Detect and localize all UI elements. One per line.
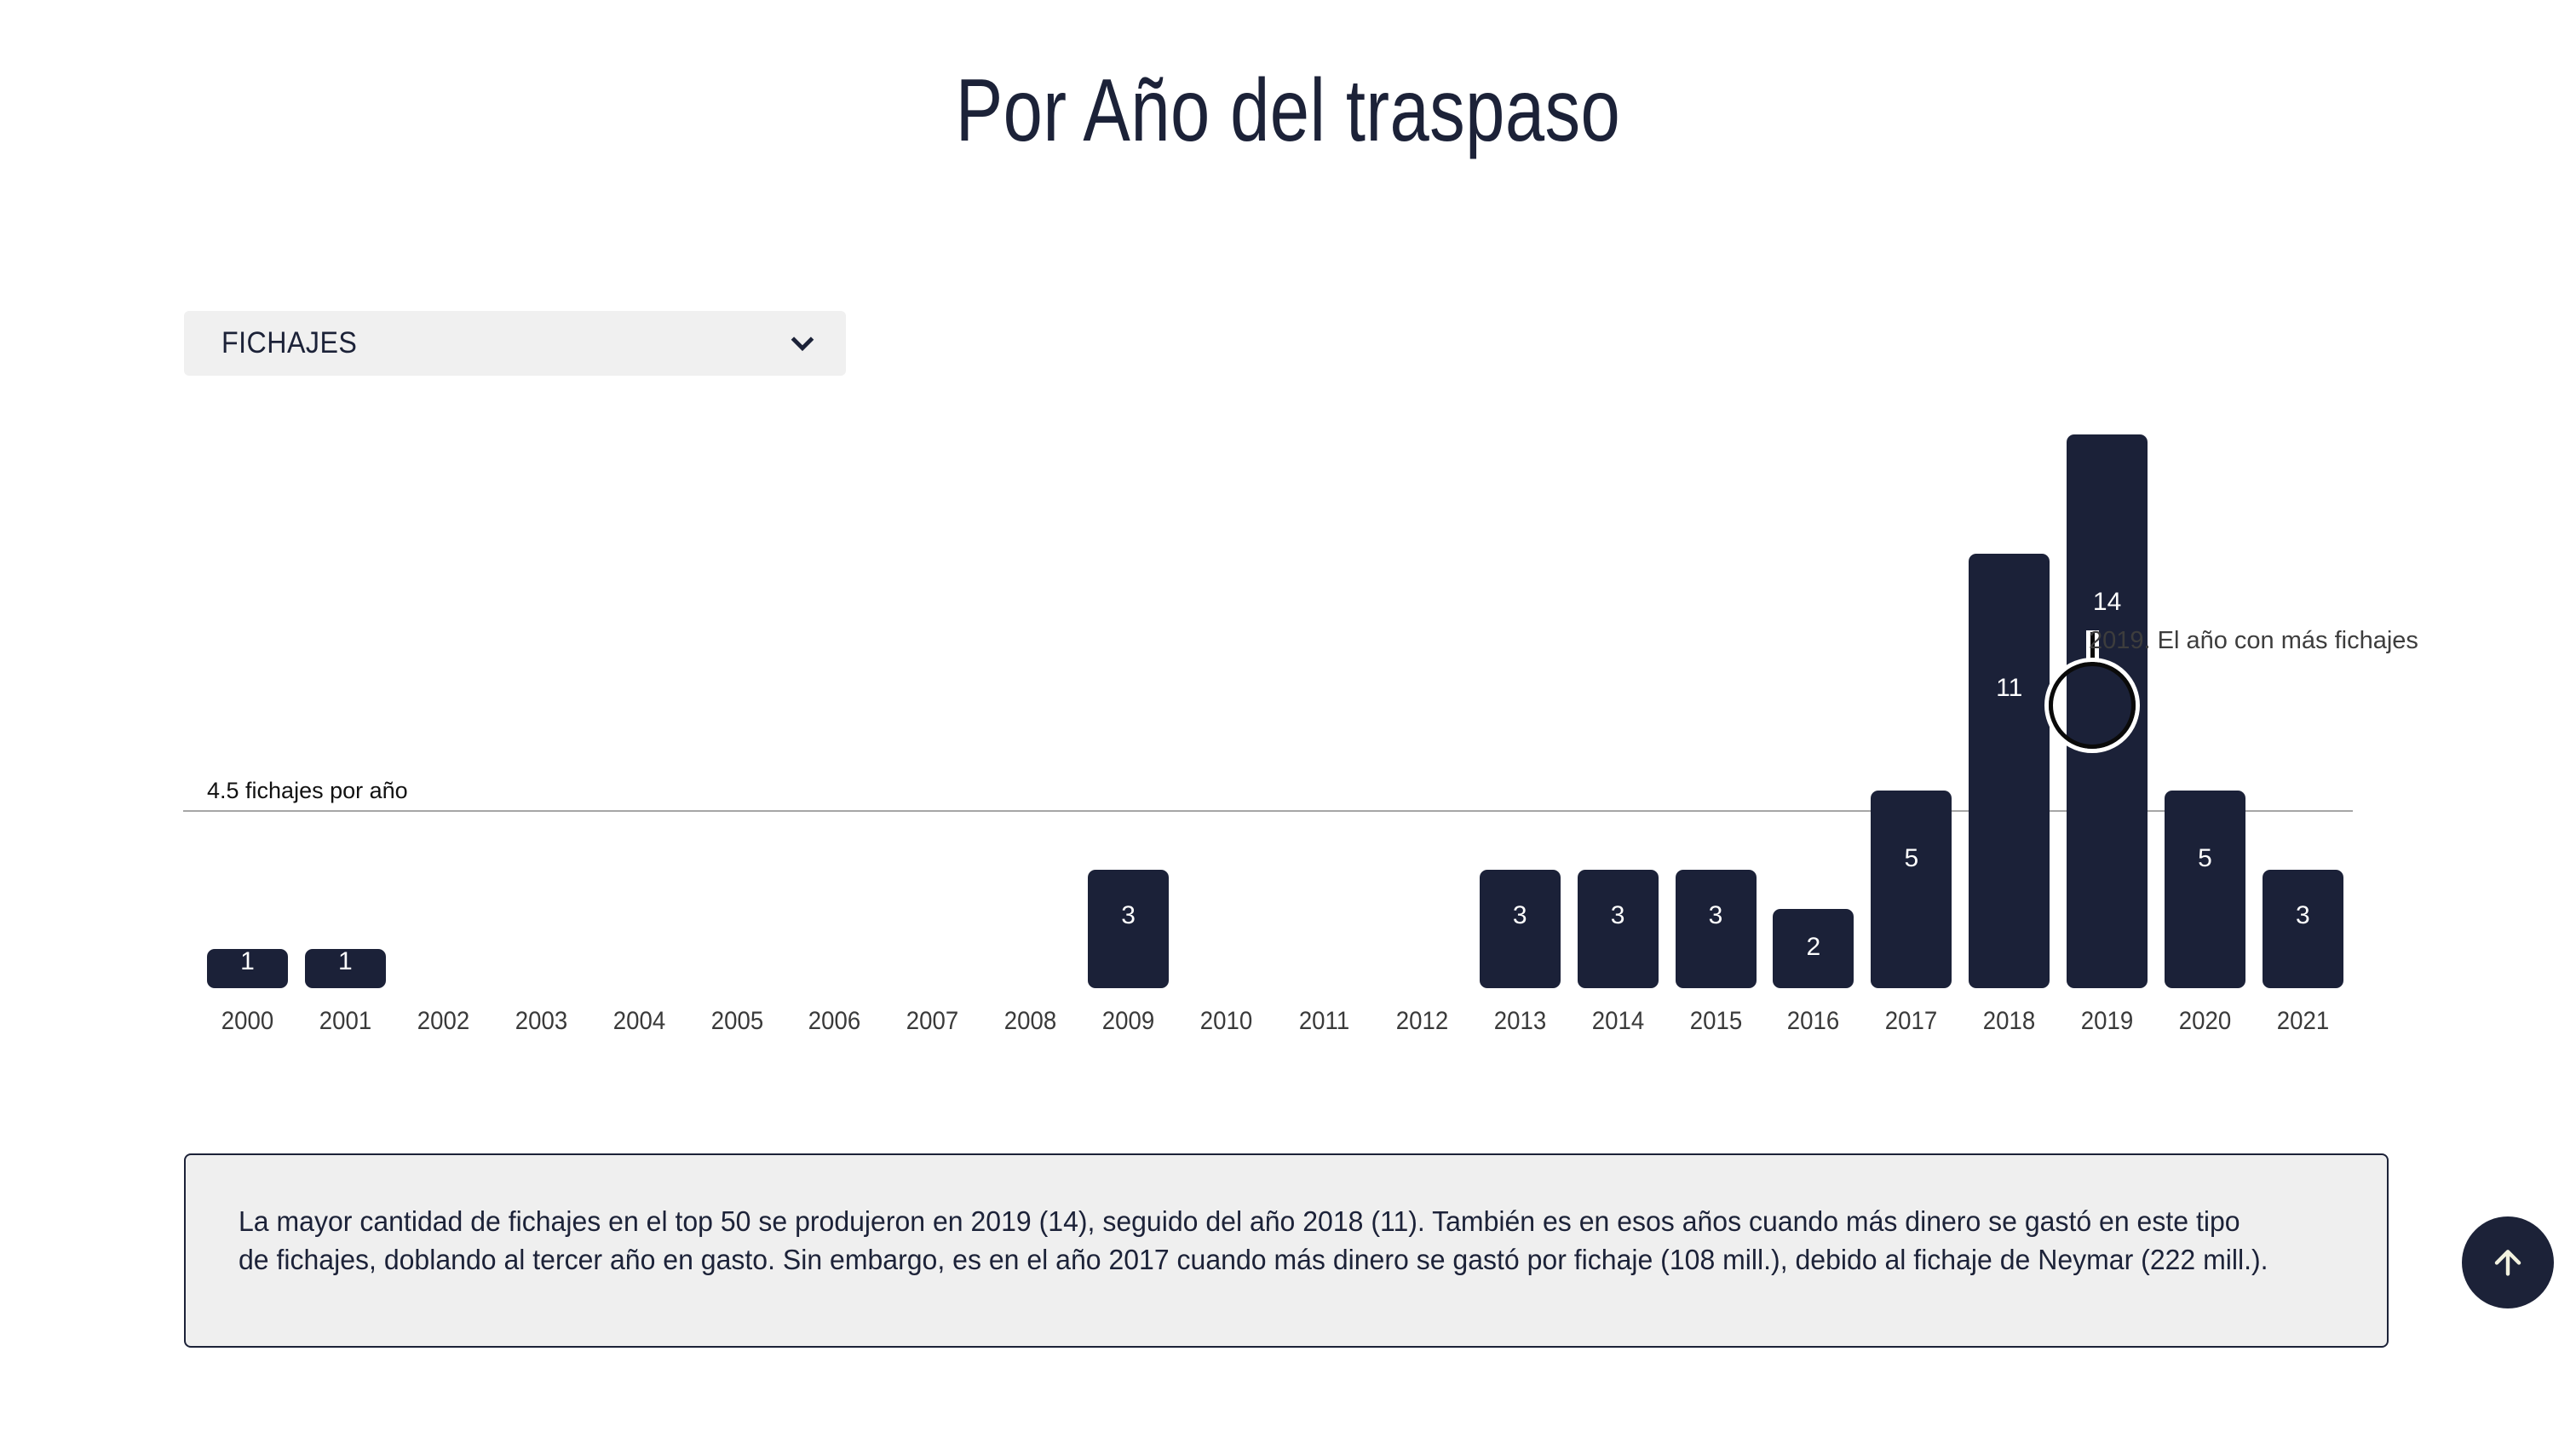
bar-2020[interactable]: 5 (2165, 791, 2245, 988)
bar-value-2019: 14 (2067, 589, 2148, 615)
arrow-up-icon (2488, 1243, 2527, 1282)
bar-2000[interactable]: 1 (207, 949, 288, 988)
bar-value-2009: 3 (1088, 903, 1169, 929)
x-axis-label-2018: 2018 (1972, 1007, 2046, 1036)
scroll-to-top-button[interactable] (2462, 1216, 2554, 1308)
average-reference-label: 4.5 fichajes por año (207, 778, 408, 804)
bar-2009[interactable]: 3 (1088, 870, 1169, 988)
x-axis-label-2016: 2016 (1776, 1007, 1850, 1036)
insight-panel: La mayor cantidad de fichajes en el top … (184, 1153, 2389, 1348)
x-axis-label-2014: 2014 (1580, 1007, 1654, 1036)
bar-2021[interactable]: 3 (2263, 870, 2343, 988)
x-axis-label-2010: 2010 (1189, 1007, 1263, 1036)
bar-value-2016: 2 (1773, 935, 1854, 960)
bar-value-2000: 1 (207, 949, 288, 975)
bar-2016[interactable]: 2 (1773, 909, 1854, 988)
chevron-down-icon[interactable] (788, 329, 817, 358)
x-axis-label-2004: 2004 (601, 1007, 676, 1036)
bar-2013[interactable]: 3 (1480, 870, 1561, 988)
x-axis-label-2013: 2013 (1482, 1007, 1556, 1036)
x-axis-label-2021: 2021 (2266, 1007, 2340, 1036)
insight-text: La mayor cantidad de fichajes en el top … (239, 1202, 2273, 1279)
bar-2019[interactable]: 14 (2067, 434, 2148, 988)
x-axis-label-2005: 2005 (699, 1007, 773, 1036)
x-axis-label-2020: 2020 (2168, 1007, 2242, 1036)
x-axis-label-2003: 2003 (503, 1007, 578, 1036)
page-title: Por Año del traspaso (257, 66, 2318, 155)
x-axis-label-2015: 2015 (1678, 1007, 1752, 1036)
x-axis-label-2008: 2008 (993, 1007, 1067, 1036)
bar-value-2014: 3 (1578, 903, 1659, 929)
x-axis-label-2019: 2019 (2070, 1007, 2144, 1036)
x-axis-label-2007: 2007 (895, 1007, 969, 1036)
bar-2017[interactable]: 5 (1871, 791, 1952, 988)
x-axis-label-2001: 2001 (308, 1007, 382, 1036)
bar-2014[interactable]: 3 (1578, 870, 1659, 988)
bar-value-2015: 3 (1676, 903, 1757, 929)
select-value-label: FICHAJES (221, 326, 357, 360)
x-axis-label-2012: 2012 (1385, 1007, 1459, 1036)
bar-2001[interactable]: 1 (305, 949, 386, 988)
bar-value-2001: 1 (305, 949, 386, 975)
bar-2018[interactable]: 11 (1969, 554, 2050, 988)
bar-value-2020: 5 (2165, 846, 2245, 871)
fichajes-select[interactable]: FICHAJES (184, 311, 846, 376)
bar-2015[interactable]: 3 (1676, 870, 1757, 988)
x-axis-label-2002: 2002 (406, 1007, 480, 1036)
x-axis-label-2011: 2011 (1287, 1007, 1361, 1036)
x-axis-label-2006: 2006 (797, 1007, 871, 1036)
annotation-label: 2019. El año con más fichajes (2089, 627, 2418, 655)
bar-value-2021: 3 (2263, 903, 2343, 929)
x-axis-label-2000: 2000 (210, 1007, 285, 1036)
bar-value-2017: 5 (1871, 846, 1952, 871)
bar-value-2018: 11 (1969, 676, 2050, 701)
x-axis-label-2017: 2017 (1874, 1007, 1948, 1036)
bar-value-2013: 3 (1480, 903, 1561, 929)
x-axis-label-2009: 2009 (1091, 1007, 1165, 1036)
